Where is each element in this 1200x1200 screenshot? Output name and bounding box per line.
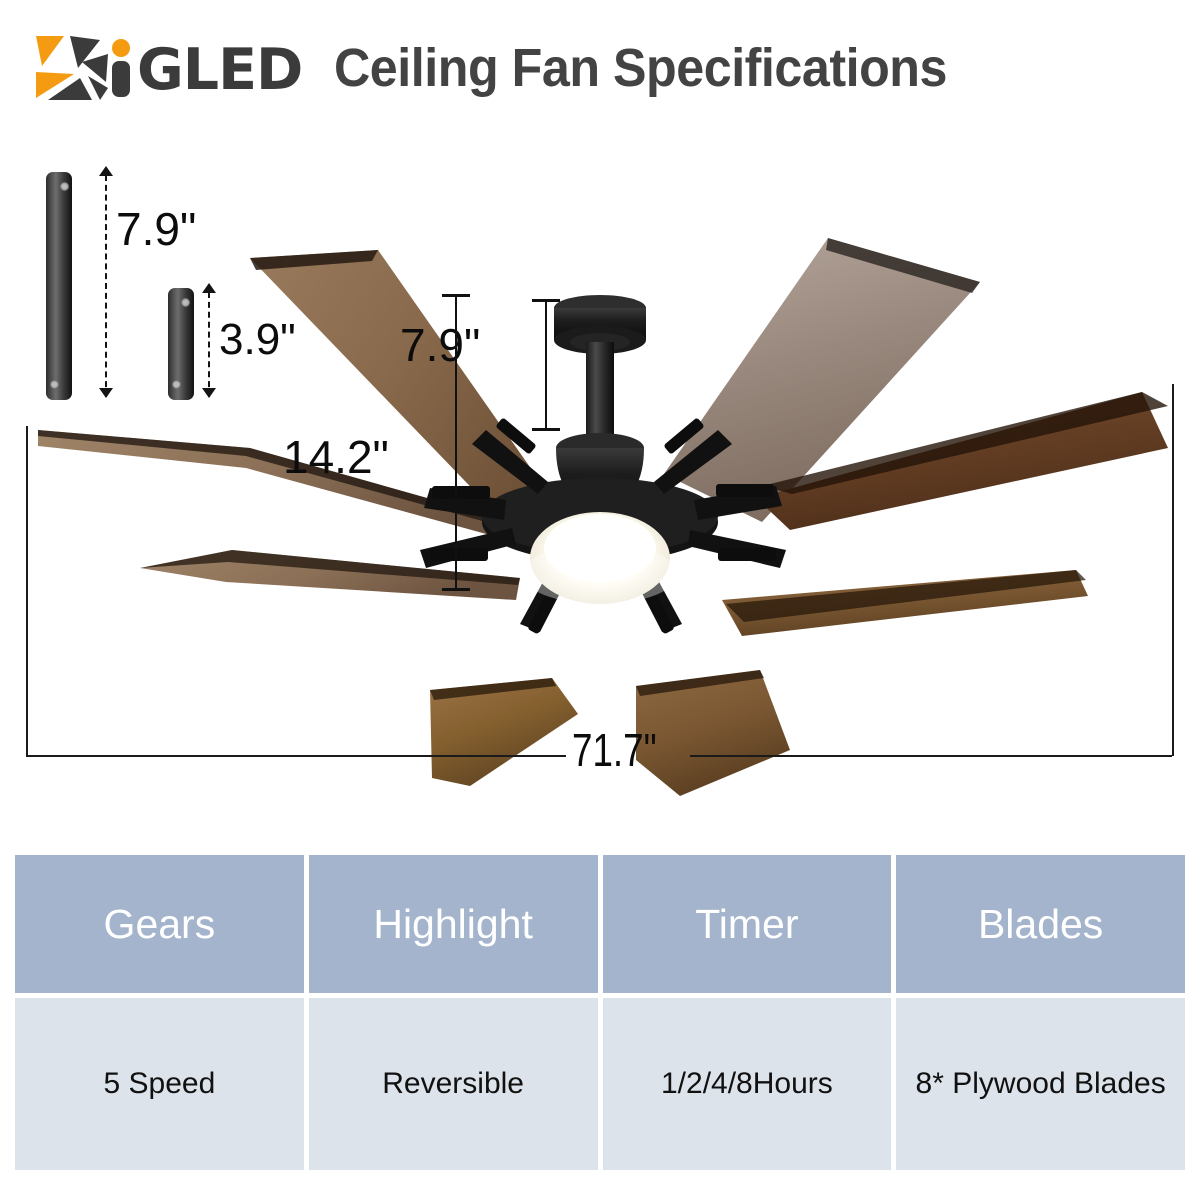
logo-letter-i [110,39,132,97]
table-cell-blades-value: 8* Plywood Blades [916,1067,1166,1101]
motor-drop-dimension-line [545,300,547,430]
product-diagram: 7.9" 3.9" [0,130,1200,830]
brand-wordmark: GLED [110,39,302,97]
span-dimension-line-right [690,755,1172,757]
table-header-timer-label: Timer [695,901,798,948]
table-cell-highlight: Reversible [309,998,598,1170]
fan-blade-bottom-right [636,670,790,796]
table-cell-timer: 1/2/4/8Hours [603,998,892,1170]
table-cell-gears: 5 Speed [15,998,304,1170]
page-header: GLED Ceiling Fan Specifications [0,22,1200,114]
table-cell-timer-value: 1/2/4/8Hours [661,1067,833,1101]
table-header-gears: Gears [15,855,304,993]
brand-name-text: GLED [137,43,302,97]
table-cell-blades: 8* Plywood Blades [896,998,1185,1170]
motor-drop-tick-bottom [532,428,560,431]
total-height-dimension-line [455,295,457,590]
specification-table: Gears Highlight Timer Blades 5 Speed Rev… [15,855,1185,1170]
fan-blade-bottom-left [430,678,578,786]
blade-span-label: 71.7" [572,723,657,777]
total-height-tick-top [442,294,470,297]
aperture-logo-icon [30,32,116,104]
table-cell-highlight-value: Reversible [382,1067,524,1101]
span-extension-line-right [1172,384,1174,756]
table-header-row: Gears Highlight Timer Blades [15,855,1185,993]
table-header-highlight-label: Highlight [373,901,533,948]
table-value-row: 5 Speed Reversible 1/2/4/8Hours 8* Plywo… [15,998,1185,1170]
total-height-tick-bottom [442,588,470,591]
span-extension-line-left [26,426,28,756]
logo-i-stem [112,61,130,97]
span-dimension-line-left [26,755,566,757]
table-header-blades-label: Blades [978,901,1103,948]
page-title: Ceiling Fan Specifications [334,37,947,99]
table-header-gears-label: Gears [104,901,216,948]
fan-blade-lower-right [722,570,1088,636]
motor-drop-label: 7.9" [400,318,480,372]
specification-sheet: GLED Ceiling Fan Specifications 7.9" 3.9… [0,0,1200,1200]
fan-downrod [586,342,614,440]
logo-i-dot-icon [112,39,130,57]
table-header-blades: Blades [896,855,1185,993]
table-header-timer: Timer [603,855,892,993]
table-cell-gears-value: 5 Speed [103,1067,215,1101]
motor-drop-tick-top [532,299,560,302]
table-header-highlight: Highlight [309,855,598,993]
total-height-label: 14.2" [283,430,389,484]
